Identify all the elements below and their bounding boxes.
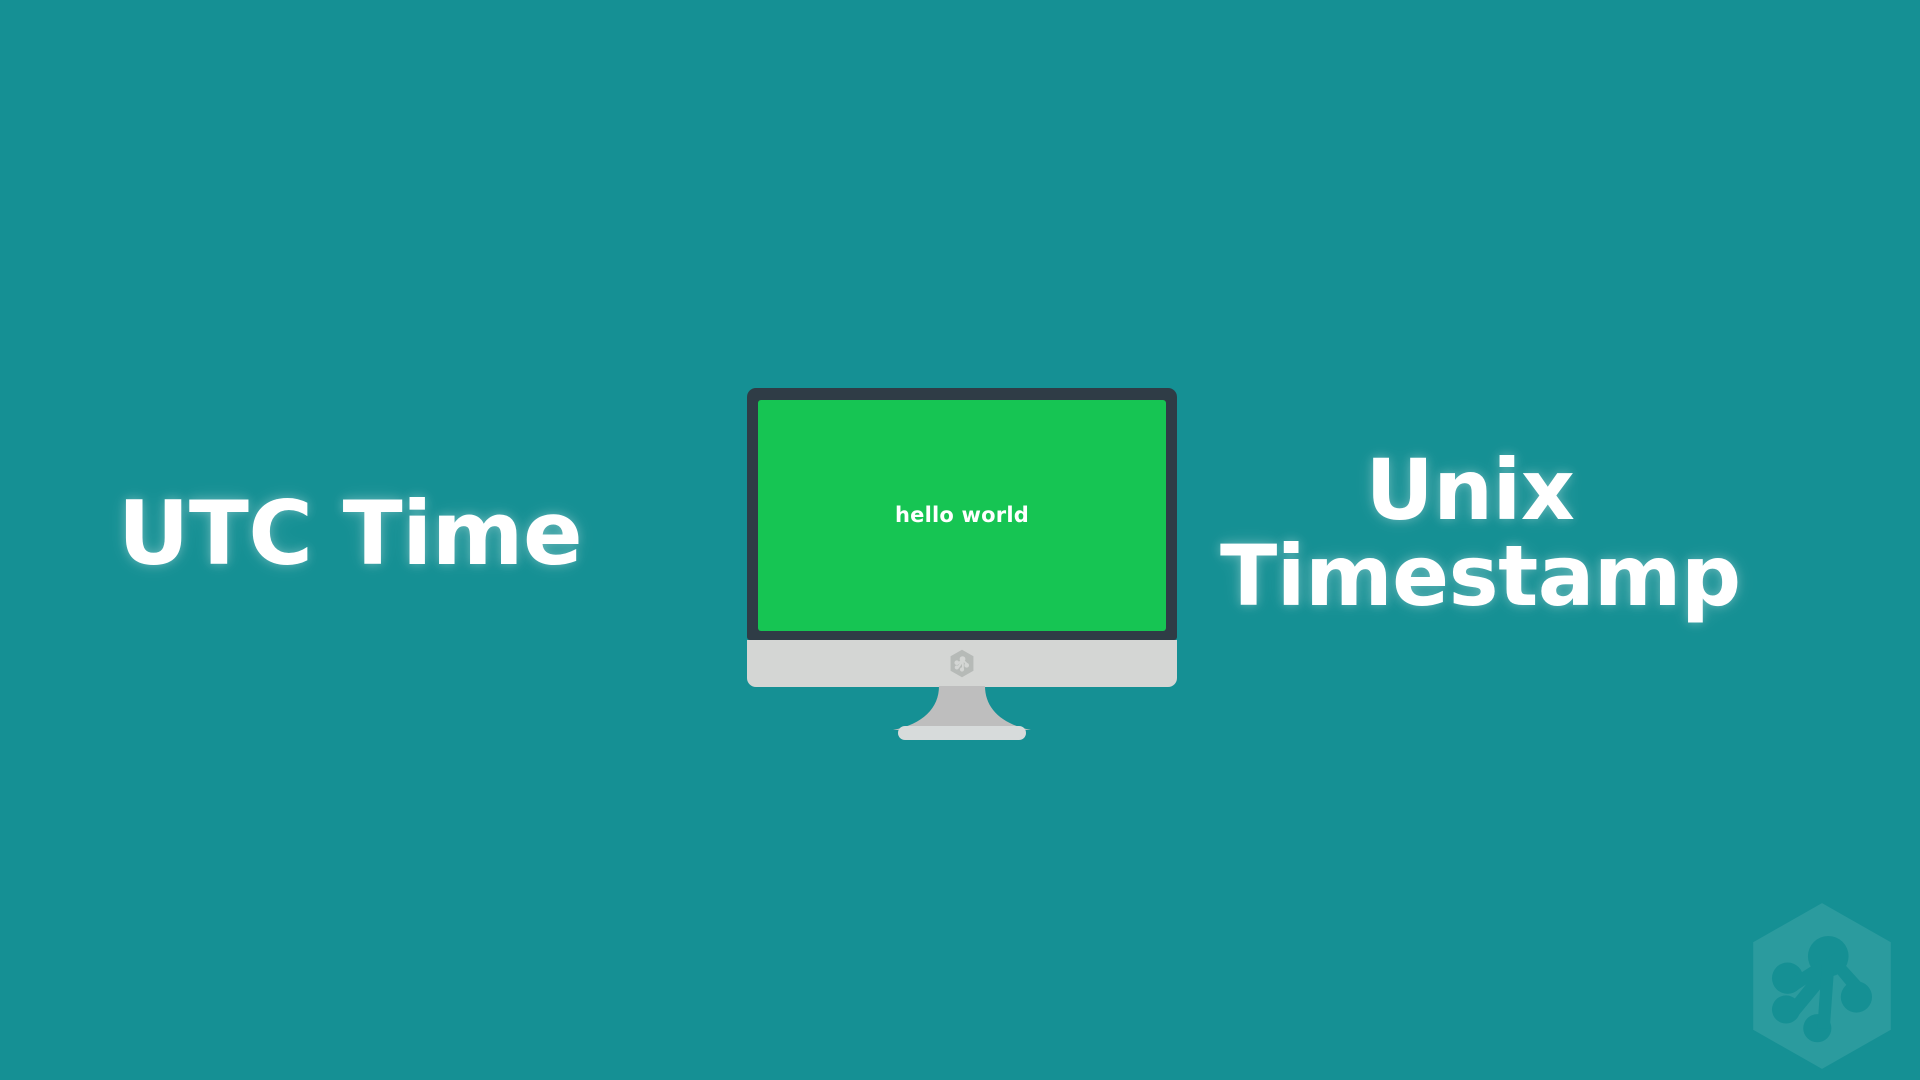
monitor-stand-base [898, 726, 1026, 740]
monitor-screen: hello world [758, 400, 1166, 631]
slide-canvas: UTC Time hello world [0, 0, 1920, 1080]
monitor-illustration: hello world [747, 388, 1177, 740]
label-unix-timestamp: Unix Timestamp [1220, 448, 1720, 619]
label-utc-time: UTC Time [0, 490, 700, 578]
monitor-bezel: hello world [747, 388, 1177, 640]
monitor-chin [747, 640, 1177, 687]
monitor-stand-neck [893, 686, 1031, 730]
screen-text-hello-world: hello world [895, 505, 1029, 526]
exercism-logo-watermark [1742, 900, 1902, 1072]
exercism-hexagon-icon [949, 649, 975, 678]
